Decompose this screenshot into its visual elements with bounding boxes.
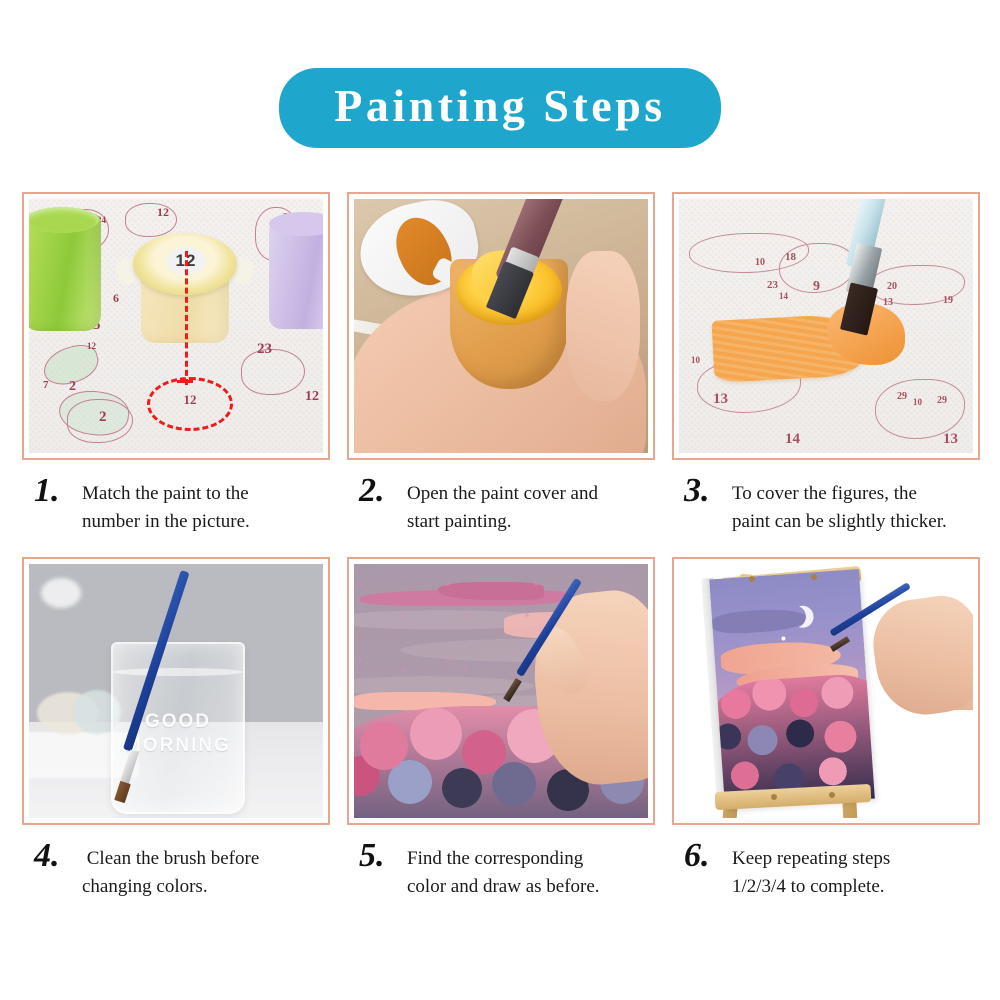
cleaning-brush-in-water-photo: GOOD MORNING <box>29 564 323 818</box>
title-banner: Painting Steps <box>279 68 721 148</box>
canvas-number: 13 <box>713 391 728 408</box>
page-title: Painting Steps <box>323 82 677 130</box>
target-region-number: 12 <box>147 392 233 408</box>
purple-paint-pot <box>269 219 323 329</box>
step-caption-text: Keep repeating steps 1/2/3/4 to complete… <box>732 839 890 900</box>
step-6-image-frame <box>672 557 980 825</box>
opening-paint-pot-photo <box>354 199 648 453</box>
step-card-5: 5. Find the corresponding color and draw… <box>347 557 655 900</box>
caption-line: number in the picture. <box>82 508 250 536</box>
step-5-image-frame <box>347 557 655 825</box>
step-card-4: GOOD MORNING 4. Clean the brush before c… <box>22 557 330 900</box>
painting-steps-page: Painting Steps 12 24 2 7 <box>0 0 1000 1000</box>
canvas-number: 12 <box>157 205 169 220</box>
step-1-image-frame: 12 24 2 7 6 5 12 2 7 2 23 24 23 12 <box>22 192 330 460</box>
canvas-number: 6 <box>113 291 119 306</box>
step-number: 6. <box>684 839 722 873</box>
caption-line: changing colors. <box>82 873 259 901</box>
caption-line: Find the corresponding <box>407 845 600 873</box>
step-caption-text: Find the corresponding color and draw as… <box>407 839 600 900</box>
red-dash-crossmark <box>177 380 193 383</box>
step-card-2: 2. Open the paint cover and start painti… <box>347 192 655 535</box>
step-caption-text: Match the paint to the number in the pic… <box>82 474 250 535</box>
step-card-6: 6. Keep repeating steps 1/2/3/4 to compl… <box>672 557 980 900</box>
canvas-number: 20 <box>887 281 897 292</box>
canvas-number: 12 <box>87 341 96 351</box>
painting-in-progress-photo <box>354 564 648 818</box>
canvas-number: 19 <box>943 295 953 306</box>
canvas-number: 10 <box>691 355 700 365</box>
step-card-1: 12 24 2 7 6 5 12 2 7 2 23 24 23 12 <box>22 192 330 535</box>
step-5-caption: 5. Find the corresponding color and draw… <box>347 839 655 900</box>
caption-line: 1/2/3/4 to complete. <box>732 873 890 901</box>
step-1-caption: 1. Match the paint to the number in the … <box>22 474 330 535</box>
canvas-number: 13 <box>943 431 958 448</box>
canvas-number: 7 <box>43 379 49 391</box>
caption-line: paint can be slightly thicker. <box>732 508 947 536</box>
finished-painting-on-easel-photo <box>679 564 973 818</box>
canvas-number: 10 <box>913 397 922 407</box>
red-dashed-pointer-line <box>185 251 188 385</box>
canvas-number: 29 <box>937 395 947 406</box>
caption-line: Match the paint to the <box>82 480 250 508</box>
step-caption-text: To cover the figures, the paint can be s… <box>732 474 947 535</box>
canvas-number: 23 <box>767 279 778 291</box>
canvas-number: 12 <box>305 389 319 405</box>
canvas-number: 10 <box>755 257 765 268</box>
step-caption-text: Open the paint cover and start painting. <box>407 474 598 535</box>
step-3-image-frame: 10 18 23 14 9 20 13 19 20 13 10 29 10 29… <box>672 192 980 460</box>
steps-grid: 12 24 2 7 6 5 12 2 7 2 23 24 23 12 <box>22 192 980 900</box>
caption-line: Keep repeating steps <box>732 845 890 873</box>
brush-applying-paint-photo: 10 18 23 14 9 20 13 19 20 13 10 29 10 29… <box>679 199 973 453</box>
caption-line: color and draw as before. <box>407 873 600 901</box>
caption-line: start painting. <box>407 508 598 536</box>
step-number: 4. <box>34 839 72 873</box>
step-4-caption: 4. Clean the brush before changing color… <box>22 839 330 900</box>
blurred-background-object <box>41 578 81 608</box>
step-number: 2. <box>359 474 397 508</box>
step-number: 1. <box>34 474 72 508</box>
glass-text-line-1: GOOD <box>145 711 211 732</box>
step-3-caption: 3. To cover the figures, the paint can b… <box>672 474 980 535</box>
caption-line: Clean the brush before <box>82 845 259 873</box>
finger <box>566 251 640 401</box>
glass-text-line-2: MORNING <box>125 735 231 756</box>
green-paint-pot <box>29 213 101 331</box>
caption-line: To cover the figures, the <box>732 480 947 508</box>
page-header: Painting Steps <box>0 68 1000 148</box>
step-number: 5. <box>359 839 397 873</box>
canvas-number: 9 <box>813 279 820 295</box>
canvas-number: 23 <box>257 341 272 358</box>
step-6-caption: 6. Keep repeating steps 1/2/3/4 to compl… <box>672 839 980 900</box>
step-2-caption: 2. Open the paint cover and start painti… <box>347 474 655 535</box>
canvas-number: 29 <box>897 391 907 402</box>
paint-pot-matching-number-photo: 12 24 2 7 6 5 12 2 7 2 23 24 23 12 <box>29 199 323 453</box>
canvas-number: 2 <box>99 409 107 426</box>
step-caption-text: Clean the brush before changing colors. <box>82 839 259 900</box>
step-card-3: 10 18 23 14 9 20 13 19 20 13 10 29 10 29… <box>672 192 980 535</box>
step-4-image-frame: GOOD MORNING <box>22 557 330 825</box>
canvas-number: 14 <box>785 431 800 448</box>
caption-line: Open the paint cover and <box>407 480 598 508</box>
canvas-number: 14 <box>779 291 788 301</box>
canvas-number: 18 <box>785 251 796 263</box>
step-2-image-frame <box>347 192 655 460</box>
step-number: 3. <box>684 474 722 508</box>
finished-painting <box>709 569 875 809</box>
canvas-number: 2 <box>69 379 76 395</box>
